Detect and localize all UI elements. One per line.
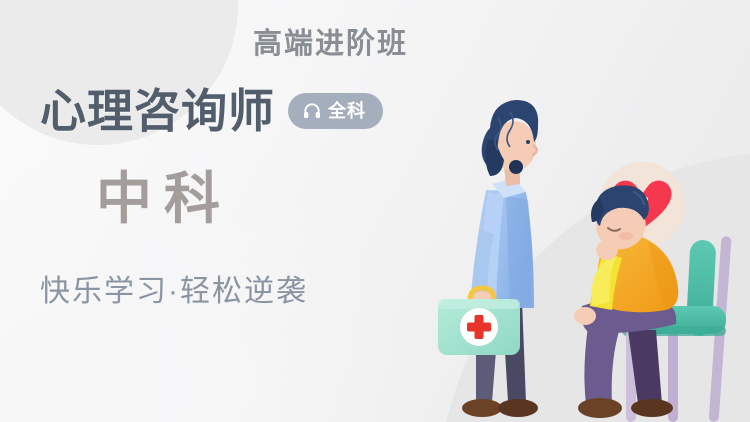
text-block: 高端进阶班 心理咨询师 全科 中科 快乐学习·轻松逆袭 [0,0,430,422]
headphone-icon [302,101,322,121]
status-badge: 全科 [288,93,383,129]
doctor-figure [462,100,538,417]
illustration-scene [430,0,750,422]
title-row: 心理咨询师 全科 [40,88,383,134]
badge-label: 全科 [328,102,366,120]
page-title: 心理咨询师 [40,88,275,134]
tagline: 快乐学习·轻松逆袭 [40,277,308,307]
course-banner: 高端进阶班 心理咨询师 全科 中科 快乐学习·轻松逆袭 [0,0,750,422]
corner-label: 高端进阶班 [253,20,408,62]
brand-name: 中科 [96,172,232,228]
